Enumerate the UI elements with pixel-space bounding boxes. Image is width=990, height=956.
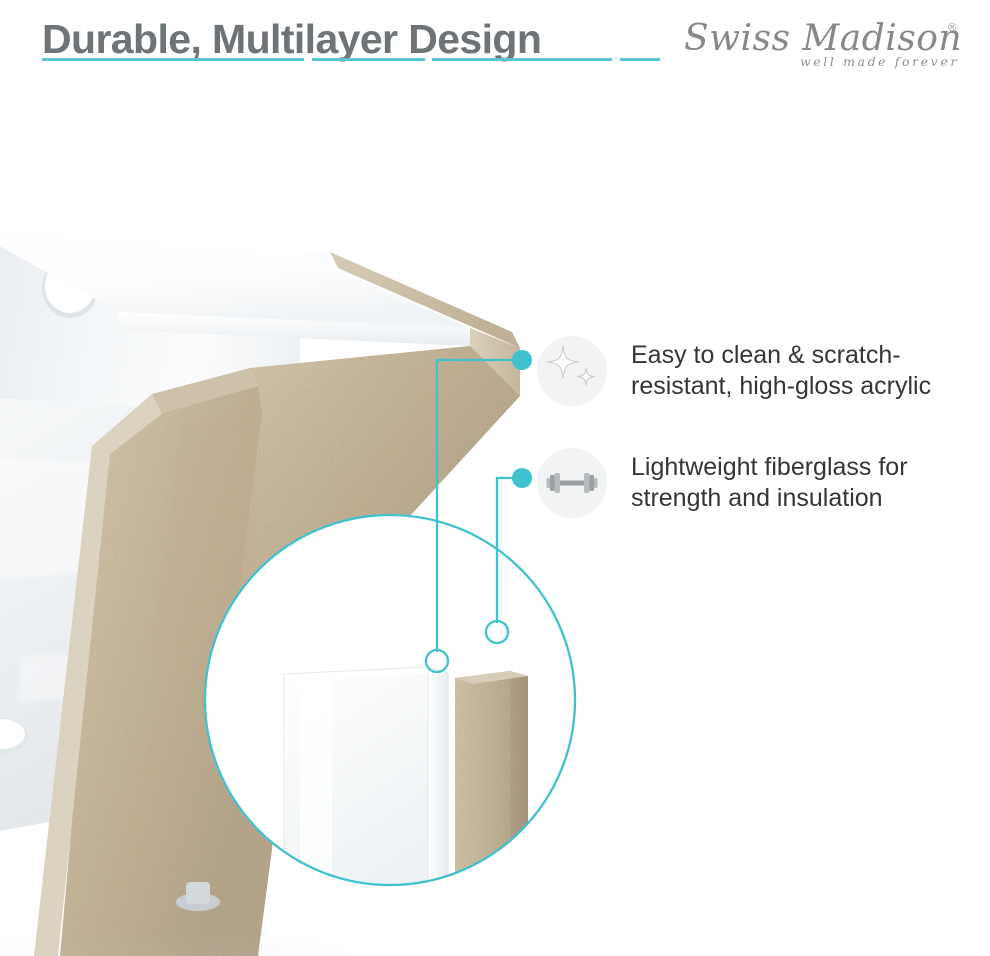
callout-text-acrylic: Easy to clean & scratch- resistant, high…: [631, 336, 931, 402]
leader-dot-acrylic: [512, 350, 532, 370]
callout-fiberglass: Lightweight fiberglass for strength and …: [537, 448, 987, 518]
callout-line-2: resistant, high-gloss acrylic: [631, 372, 931, 400]
product-illustration: [0, 96, 990, 956]
infographic-canvas: Durable, Multilayer Design Swiss Madison…: [0, 0, 990, 956]
title-underline-segment-3: [432, 58, 612, 61]
title-underline-segment-1: [42, 58, 304, 61]
title-wrap: Durable, Multilayer Design: [42, 14, 541, 64]
title-underline-segment-2: [312, 58, 425, 61]
header: Durable, Multilayer Design Swiss Madison…: [0, 0, 990, 96]
brand-tagline: well made forever: [800, 54, 959, 69]
leader-dot-fiberglass: [512, 468, 532, 488]
callout-line-2: strength and insulation: [631, 484, 883, 512]
title-underline-segment-4: [620, 58, 660, 61]
callout-line-1: Lightweight fiberglass for: [631, 453, 908, 481]
callout-badge-fiberglass: [537, 448, 607, 518]
callout-line-1: Easy to clean & scratch-: [631, 341, 901, 369]
callout-text-fiberglass: Lightweight fiberglass for strength and …: [631, 448, 908, 514]
brand-logo: Swiss Madison ® well made forever: [684, 18, 970, 74]
sparkle-icon: [537, 336, 607, 406]
page-title: Durable, Multilayer Design: [42, 14, 541, 64]
callout-badge-acrylic: [537, 336, 607, 406]
registered-trademark-icon: ®: [948, 22, 956, 34]
callout-acrylic: Easy to clean & scratch- resistant, high…: [537, 336, 987, 406]
dumbbell-icon: [537, 448, 607, 518]
